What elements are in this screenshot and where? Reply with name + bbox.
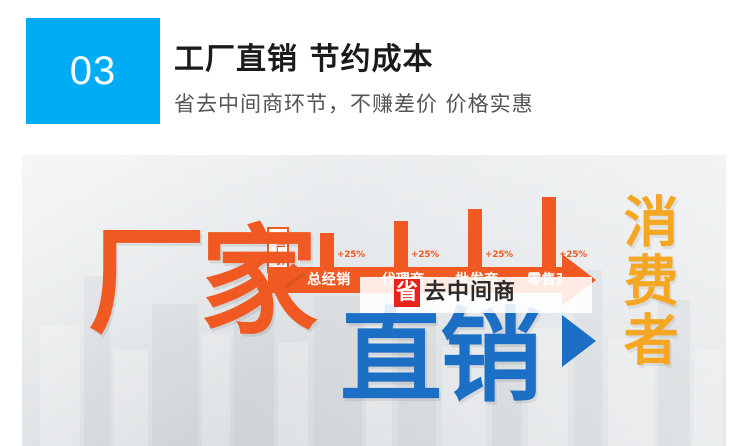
- factory-word: 厂家: [88, 223, 312, 341]
- section-number-badge: 03: [26, 18, 160, 124]
- direct-sale-word: 直销: [340, 307, 540, 409]
- consumer-word: 消费者: [618, 193, 674, 370]
- bar-channel-4: [542, 197, 556, 269]
- section-number: 03: [70, 51, 117, 91]
- markup-label-3: +25%: [485, 250, 513, 260]
- infographic-stage: +25% +25% +25% +25% 出厂价 总经销 代理商 批发商 零售商 …: [22, 155, 726, 446]
- page-title: 工厂直销 节约成本: [174, 42, 433, 78]
- save-badge: 省: [394, 279, 420, 307]
- markup-label-2: +25%: [411, 250, 439, 260]
- bar-channel-2: [394, 221, 408, 269]
- markup-label-1: +25%: [337, 250, 365, 260]
- bar-channel-1: [320, 233, 334, 269]
- promo-section: 03 工厂直销 节约成本 省去中间商环节，不赚差价 价格实惠: [0, 0, 748, 446]
- save-middleman-text: 去中间商: [424, 279, 516, 307]
- infographic-image: +25% +25% +25% +25% 出厂价 总经销 代理商 批发商 零售商 …: [22, 155, 726, 446]
- section-header: 03 工厂直销 节约成本 省去中间商环节，不赚差价 价格实惠: [0, 0, 748, 150]
- bar-channel-3: [468, 209, 482, 269]
- page-subtitle: 省去中间商环节，不赚差价 价格实惠: [174, 92, 534, 117]
- arrow-direct-sale-icon: [562, 315, 596, 367]
